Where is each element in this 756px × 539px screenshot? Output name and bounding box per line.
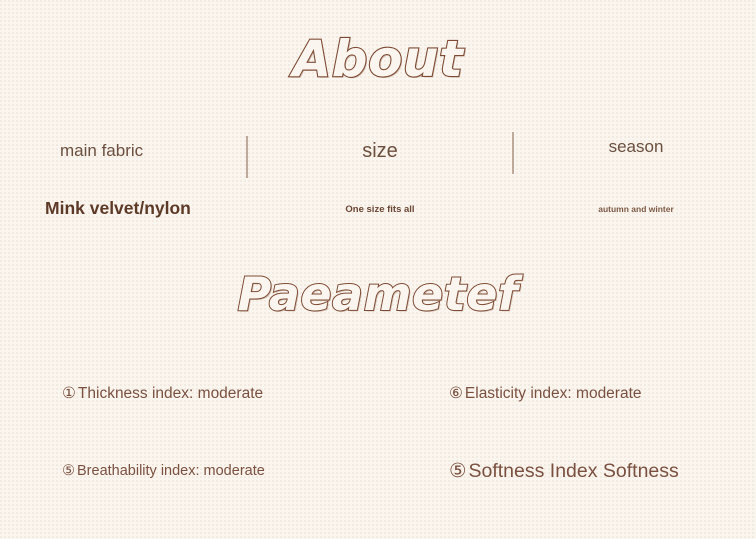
parameter-item-breathability-label: Breathability index: moderate [77,463,265,479]
spec-value-season: autumn and winter [516,204,756,214]
content-layer: About main fabric Mink velvet/nylon size… [0,0,756,539]
spec-divider-1 [246,136,248,178]
circled-number-icon: ① [62,385,76,402]
spec-label-season: season [516,137,756,157]
parameter-item-elasticity-label: Elasticity index: moderate [465,385,642,402]
circled-number-icon: ⑥ [449,385,463,402]
spec-value-size: One size fits all [250,204,510,215]
parameter-item-elasticity: ⑥Elasticity index: moderate [449,384,642,403]
parameter-heading: Paeametef [0,267,756,321]
about-heading: About [0,30,756,88]
parameter-item-thickness-label: Thickness index: moderate [78,385,263,402]
spec-row: main fabric Mink velvet/nylon size One s… [0,128,756,228]
spec-label-main-fabric: main fabric [60,141,143,161]
parameter-item-softness: ⑤Softness Index Softness [449,459,679,483]
parameter-item-softness-label: Softness Index Softness [468,460,678,482]
parameter-item-breathability: ⑤Breathability index: moderate [62,463,265,479]
parameter-item-thickness: ①Thickness index: moderate [62,384,263,403]
spec-label-size: size [250,140,510,163]
spec-divider-2 [512,132,514,174]
circled-number-icon: ⑤ [62,463,75,479]
spec-value-main-fabric: Mink velvet/nylon [45,198,191,219]
circled-number-icon: ⑤ [449,460,466,482]
